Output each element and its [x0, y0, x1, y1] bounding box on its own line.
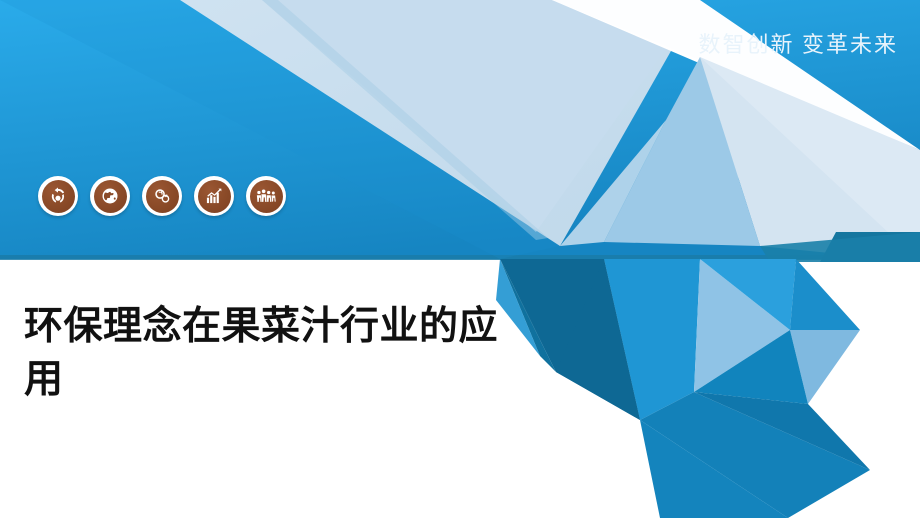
page-title: 环保理念在果菜汁行业的应用 [24, 300, 524, 406]
icon-strip [38, 176, 286, 216]
title-block: 环保理念在果菜汁行业的应用 [24, 300, 524, 406]
gears-icon [146, 180, 179, 213]
icon-badge-globe[interactable] [90, 176, 130, 216]
bar-chart-icon [198, 180, 231, 213]
cover-slide: 数智创新 变革未来 [0, 0, 920, 518]
globe-icon [94, 180, 127, 213]
icon-badge-recycle[interactable] [38, 176, 78, 216]
tagline: 数智创新 变革未来 [698, 27, 898, 59]
icon-badge-bar-chart[interactable] [194, 176, 234, 216]
people-icon [250, 180, 283, 213]
background-artwork [0, 0, 920, 518]
icon-badge-people[interactable] [246, 176, 286, 216]
icon-badge-gears[interactable] [142, 176, 182, 216]
recycle-icon [42, 180, 75, 213]
